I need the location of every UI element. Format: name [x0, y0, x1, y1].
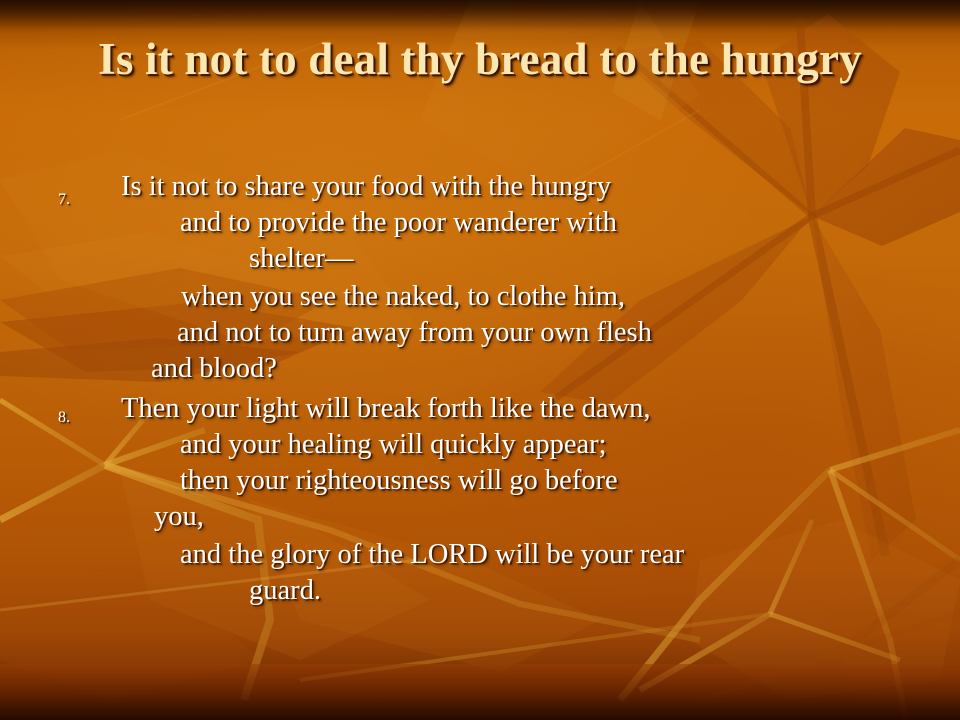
verse-line: and your healing will quickly appear;: [180, 430, 607, 460]
presentation-slide: Is it not to deal thy bread to the hungr…: [0, 0, 960, 720]
verse-line: shelter—: [249, 244, 353, 274]
verse-line: Then your light will break forth like th…: [121, 394, 651, 424]
verse-line: when you see the naked, to clothe him,: [181, 282, 625, 312]
slide-title: Is it not to deal thy bread to the hungr…: [56, 28, 904, 90]
list-marker: 8.: [58, 410, 70, 426]
verse-line: guard.: [249, 576, 321, 606]
verse-line: and not to turn away from your own flesh: [177, 318, 652, 348]
verse-line: then your righteousness will go before: [180, 466, 618, 496]
verse-line: Is it not to share your food with the hu…: [121, 172, 611, 202]
list-marker: 7.: [58, 192, 70, 208]
verse-line: you,: [154, 502, 204, 532]
numbered-paragraph: 8. Then your light will break forth like…: [0, 394, 960, 614]
verse-line: and to provide the poor wanderer with: [180, 208, 617, 238]
bottom-shadow-band: [0, 664, 960, 720]
numbered-paragraph: 7. Is it not to share your food with the…: [0, 172, 960, 392]
verse-line: and blood?: [151, 354, 277, 384]
verse-line: and the glory of the LORD will be your r…: [180, 540, 684, 570]
